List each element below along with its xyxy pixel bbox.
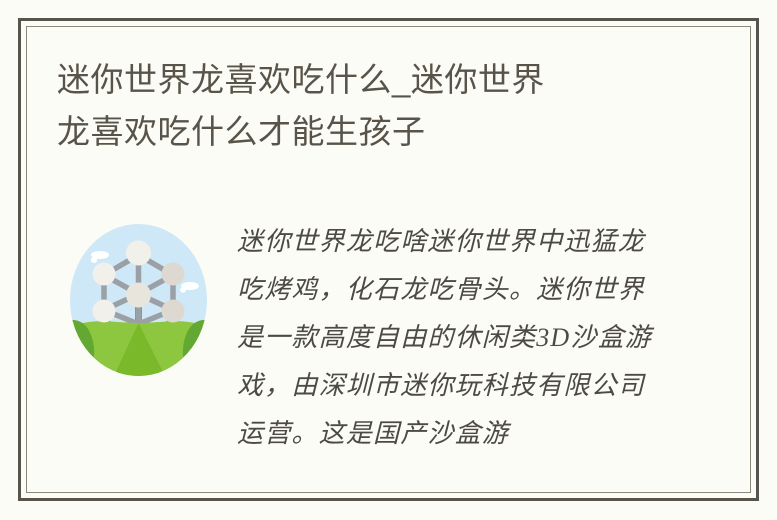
article-body-text: 迷你世界龙吃啥迷你世界中迅猛龙吃烤鸡，化石龙吃骨头。迷你世界是一款高度自由的休闲… [237, 218, 661, 463]
article-card: 迷你世界龙喜欢吃什么_迷你世界 龙喜欢吃什么才能生孩子 [18, 18, 759, 501]
atomium-landmark-illustration-svg [70, 224, 207, 376]
page-title: 迷你世界龙喜欢吃什么_迷你世界 龙喜欢吃什么才能生孩子 [57, 54, 677, 158]
atomium-landmark-illustration-icon [70, 224, 207, 376]
article-content-row: 迷你世界龙吃啥迷你世界中迅猛龙吃烤鸡，化石龙吃骨头。迷你世界是一款高度自由的休闲… [21, 206, 756, 498]
